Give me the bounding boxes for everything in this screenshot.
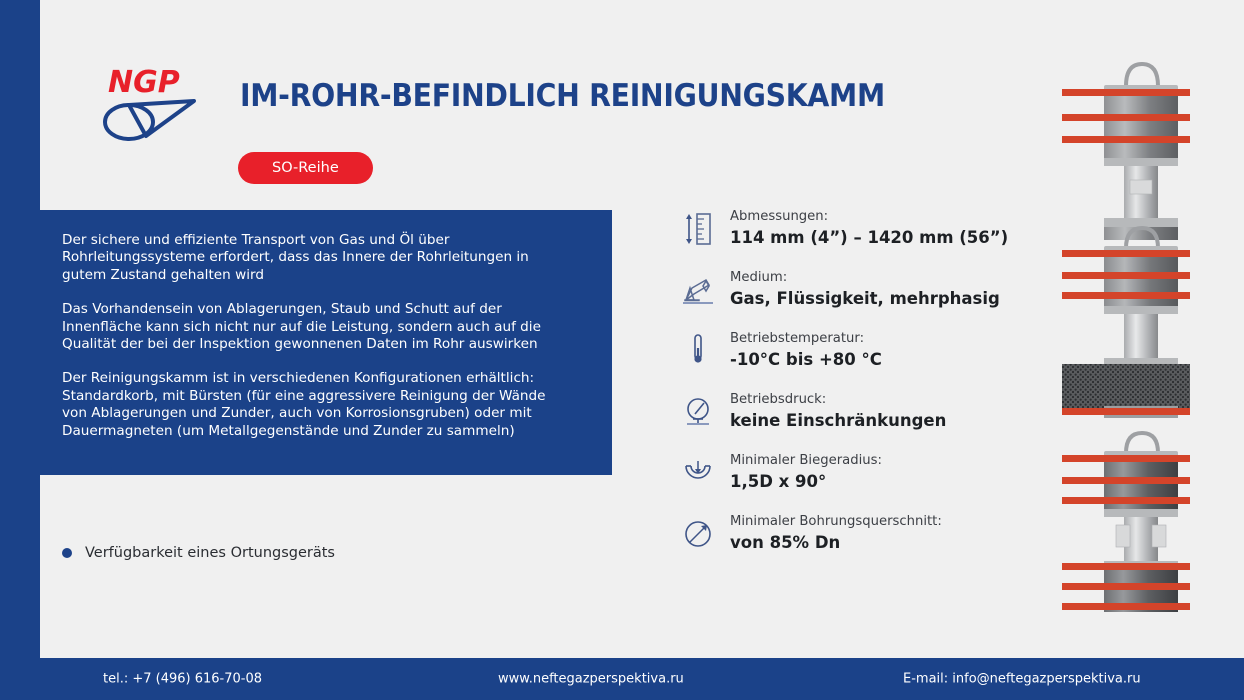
list-item: Verfügbarkeit eines Ortungsgeräts — [62, 545, 335, 561]
pressure-gauge-icon — [680, 390, 716, 434]
poster-page: NGP IM-ROHR-BEFINDLICH REINIGUNGSKAMM SO… — [0, 0, 1244, 700]
spec-label: Medium: — [730, 269, 1000, 286]
spec-row-bend-radius: Minimaler Biegeradius: 1,5D x 90° — [680, 451, 1060, 495]
product-photo-gallery — [1044, 50, 1224, 630]
footer-phone[interactable]: tel.: +7 (496) 616-70-08 — [103, 672, 262, 687]
bend-radius-icon — [680, 451, 716, 495]
footer-email[interactable]: E-mail: info@neftegazperspektiva.ru — [903, 672, 1141, 687]
footer: tel.: +7 (496) 616-70-08 www.neftegazper… — [0, 658, 1244, 700]
description-paragraph: Der sichere und effiziente Transport von… — [62, 232, 554, 284]
description-text: Der sichere und effiziente Transport von… — [62, 232, 554, 440]
spec-body: Abmessungen: 114 mm (4”) – 1420 mm (56”) — [730, 207, 1008, 248]
spec-value: 1,5D x 90° — [730, 471, 882, 492]
spec-value: Gas, Flüssigkeit, mehrphasig — [730, 288, 1000, 309]
ngp-pipe-logo: NGP — [102, 60, 202, 148]
feature-list: Verfügbarkeit eines Ortungsgeräts — [62, 545, 335, 561]
feature-label: Verfügbarkeit eines Ortungsgeräts — [85, 545, 335, 561]
ruler-icon — [680, 207, 716, 251]
spec-row-pressure: Betriebsdruck: keine Einschränkungen — [680, 390, 1060, 434]
bore-diameter-icon — [680, 512, 716, 556]
description-paragraph: Das Vorhandensein von Ablagerungen, Stau… — [62, 301, 554, 353]
spec-value: keine Einschränkungen — [730, 410, 946, 431]
series-badge: SO-Reihe — [238, 152, 373, 184]
spec-value: -10°C bis +80 °C — [730, 349, 882, 370]
bullet-dot-icon — [62, 548, 72, 558]
thermometer-icon — [680, 329, 716, 373]
footer-website[interactable]: www.neftegazperspektiva.ru — [498, 672, 684, 687]
spec-label: Minimaler Bohrungsquerschnitt: — [730, 513, 942, 530]
product-photo-standard-basket — [1044, 50, 1224, 244]
spec-body: Minimaler Biegeradius: 1,5D x 90° — [730, 451, 882, 492]
spec-label: Betriebstemperatur: — [730, 330, 882, 347]
spec-label: Betriebsdruck: — [730, 391, 946, 408]
spec-label: Minimaler Biegeradius: — [730, 452, 882, 469]
description-panel: Der sichere und effiziente Transport von… — [0, 210, 612, 475]
spec-body: Betriebsdruck: keine Einschränkungen — [730, 390, 946, 431]
spec-value: 114 mm (4”) – 1420 mm (56”) — [730, 227, 1008, 248]
product-photo-with-magnets — [1044, 425, 1224, 624]
description-paragraph: Der Reinigungskamm ist in verschiedenen … — [62, 370, 554, 440]
page-title: IM-ROHR-BEFINDLICH REINIGUNGSKAMM — [240, 78, 885, 114]
specifications-list: Abmessungen: 114 mm (4”) – 1420 mm (56”)… — [680, 207, 1060, 556]
product-photo-with-brushes — [1044, 218, 1224, 437]
svg-text:NGP: NGP — [108, 65, 180, 100]
spec-row-temperature: Betriebstemperatur: -10°C bis +80 °C — [680, 329, 1060, 373]
spec-body: Medium: Gas, Flüssigkeit, mehrphasig — [730, 268, 1000, 309]
spec-body: Betriebstemperatur: -10°C bis +80 °C — [730, 329, 882, 370]
spec-row-dimensions: Abmessungen: 114 mm (4”) – 1420 mm (56”) — [680, 207, 1060, 251]
spec-body: Minimaler Bohrungsquerschnitt: von 85% D… — [730, 512, 942, 553]
oil-pumpjack-icon — [680, 268, 716, 312]
spec-row-bore: Minimaler Bohrungsquerschnitt: von 85% D… — [680, 512, 1060, 556]
spec-label: Abmessungen: — [730, 208, 1008, 225]
spec-value: von 85% Dn — [730, 532, 942, 553]
spec-row-medium: Medium: Gas, Flüssigkeit, mehrphasig — [680, 268, 1060, 312]
